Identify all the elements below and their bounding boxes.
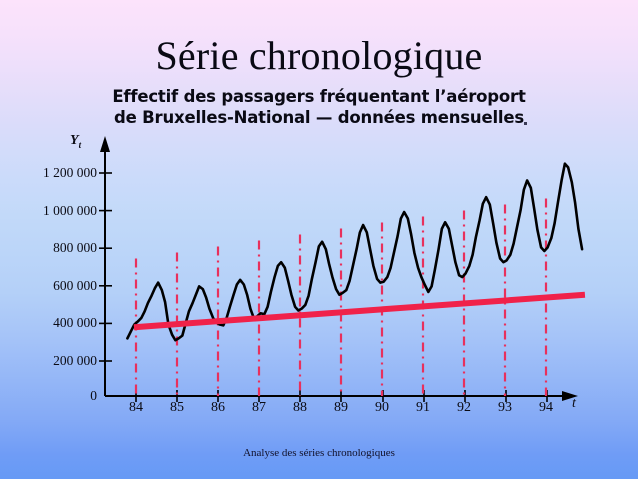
y-axis-title: Yt <box>70 133 81 150</box>
x-tick-label-93: 93 <box>485 400 525 416</box>
x-tick-label-91: 91 <box>403 400 443 416</box>
x-tick-label-94: 94 <box>526 400 566 416</box>
chart-axes <box>100 136 578 401</box>
y-tick-label-1000000: 1 000 000 <box>5 203 97 219</box>
x-tick-label-84: 84 <box>116 400 156 416</box>
y-tick-label-400000: 400 000 <box>5 315 97 331</box>
x-tick-label-90: 90 <box>362 400 402 416</box>
x-tick-label-88: 88 <box>280 400 320 416</box>
y-axis-tick-labels: 1 200 000 1 000 000 800 000 600 000 400 … <box>0 0 97 479</box>
slide-footer: Analyse des séries chronologiques <box>0 447 638 459</box>
y-tick-label-0: 0 <box>5 388 97 404</box>
y-tick-label-800000: 800 000 <box>5 240 97 256</box>
x-tick-label-85: 85 <box>157 400 197 416</box>
y-axis-arrowhead <box>100 136 110 152</box>
x-tick-label-86: 86 <box>198 400 238 416</box>
y-tick-label-1200000: 1 200 000 <box>5 165 97 181</box>
slide-canvas: Série chronologique Effectif des passage… <box>0 0 638 479</box>
x-tick-label-87: 87 <box>239 400 279 416</box>
x-axis-title: t <box>572 396 576 412</box>
linear-trend-line <box>134 295 585 328</box>
x-tick-label-92: 92 <box>444 400 484 416</box>
y-tick-label-600000: 600 000 <box>5 278 97 294</box>
year-marker-lines <box>136 198 546 396</box>
y-tick-label-200000: 200 000 <box>5 353 97 369</box>
x-tick-label-89: 89 <box>321 400 361 416</box>
